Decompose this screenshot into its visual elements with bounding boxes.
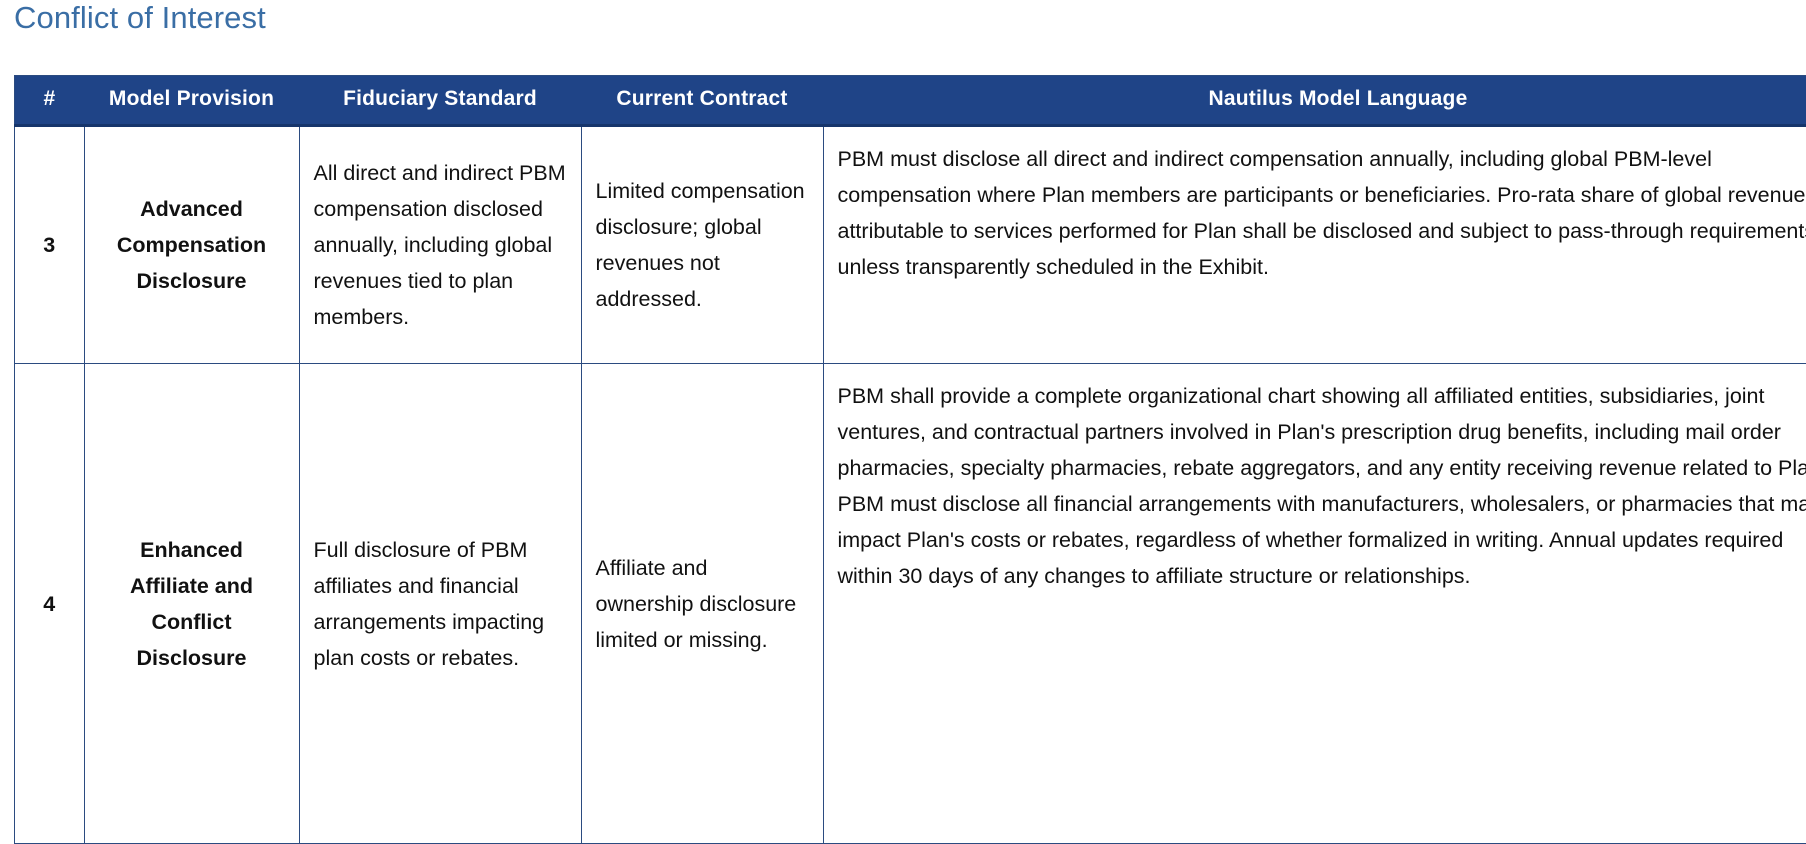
cell-fiduciary-standard: All direct and indirect PBM compensation… <box>299 126 581 364</box>
page-title: Conflict of Interest <box>14 0 266 39</box>
table-header-row: # Model Provision Fiduciary Standard Cur… <box>15 76 1806 126</box>
table-header: # Model Provision Fiduciary Standard Cur… <box>15 76 1806 126</box>
document-page: Conflict of Interest # Model Provision F… <box>0 0 1806 802</box>
column-header-fiduciary-standard: Fiduciary Standard <box>299 76 581 126</box>
cell-current-contract: Limited compensation disclosure; global … <box>581 126 823 364</box>
comparison-table-container: # Model Provision Fiduciary Standard Cur… <box>14 75 1792 844</box>
cell-row-number: 4 <box>15 364 85 844</box>
column-header-number: # <box>15 76 85 126</box>
column-header-current-contract: Current Contract <box>581 76 823 126</box>
column-header-model-provision: Model Provision <box>84 76 299 126</box>
table-row: 3 Advanced Compensation Disclosure All d… <box>15 126 1806 364</box>
cell-nautilus-model-language: PBM shall provide a complete organizatio… <box>823 364 1806 844</box>
cell-row-number: 3 <box>15 126 85 364</box>
cell-model-provision: Enhanced Affiliate and Conflict Disclosu… <box>84 364 299 844</box>
cell-model-provision: Advanced Compensation Disclosure <box>84 126 299 364</box>
cell-nautilus-model-language: PBM must disclose all direct and indirec… <box>823 126 1806 364</box>
table-body: 3 Advanced Compensation Disclosure All d… <box>15 126 1806 844</box>
cell-current-contract: Affiliate and ownership disclosure limit… <box>581 364 823 844</box>
table-row: 4 Enhanced Affiliate and Conflict Disclo… <box>15 364 1806 844</box>
column-header-nautilus-model-language: Nautilus Model Language <box>823 76 1806 126</box>
cell-fiduciary-standard: Full disclosure of PBM affiliates and fi… <box>299 364 581 844</box>
comparison-table: # Model Provision Fiduciary Standard Cur… <box>14 75 1806 844</box>
